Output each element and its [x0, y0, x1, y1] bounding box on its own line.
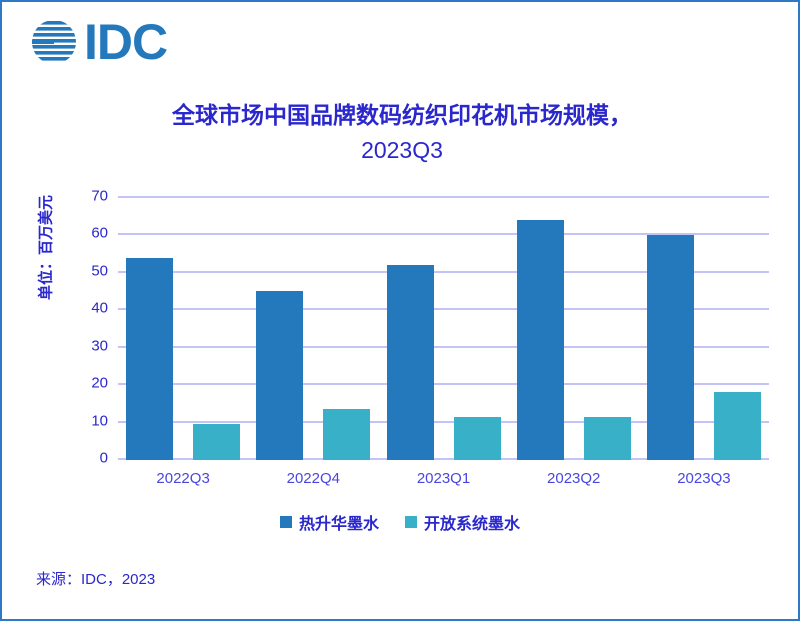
- y-axis-tick-label: 30: [91, 337, 108, 354]
- legend-swatch-icon: [405, 516, 417, 528]
- y-axis-tick-label: 0: [100, 450, 108, 467]
- bar: [584, 417, 631, 460]
- x-axis-tick-label: 2023Q2: [509, 470, 639, 487]
- chart-title-line1: 全球市场中国品牌数码纺织印花机市场规模，: [62, 98, 742, 133]
- y-axis-label: 单位：百万美元: [35, 163, 56, 333]
- source-note: 来源：IDC，2023: [36, 568, 155, 589]
- bar-groups: [118, 198, 769, 460]
- slide: IDC 全球市场中国品牌数码纺织印花机市场规模， 2023Q3 单位：百万美元 …: [0, 0, 800, 621]
- chart-title-line2: 2023Q3: [62, 133, 742, 168]
- legend-item[interactable]: 开放系统墨水: [405, 510, 520, 534]
- y-axis-tick-label: 20: [91, 375, 108, 392]
- y-axis-tick-label: 70: [91, 188, 108, 205]
- x-axis-tick-label: 2023Q1: [378, 470, 508, 487]
- legend-label: 热升华墨水: [299, 510, 379, 534]
- bar: [387, 265, 434, 460]
- bar: [454, 417, 501, 460]
- bar-group: [118, 198, 248, 460]
- bar: [126, 258, 173, 460]
- idc-logo: IDC: [28, 16, 167, 68]
- x-axis: 2022Q32022Q42023Q12023Q22023Q3: [118, 470, 769, 487]
- x-axis-tick-label: 2023Q3: [639, 470, 769, 487]
- bar: [714, 392, 761, 460]
- plot-area: 010203040506070: [118, 198, 769, 460]
- bar-chart: 单位：百万美元 010203040506070 2022Q32022Q42023…: [28, 187, 778, 477]
- bar: [647, 235, 694, 460]
- chart-title: 全球市场中国品牌数码纺织印花机市场规模， 2023Q3: [62, 98, 742, 167]
- bar: [193, 424, 240, 460]
- bar: [517, 220, 564, 460]
- y-axis-tick-label: 40: [91, 300, 108, 317]
- legend-swatch-icon: [280, 516, 292, 528]
- bar: [323, 409, 370, 460]
- y-axis-tick-label: 10: [91, 412, 108, 429]
- bar-group: [509, 198, 639, 460]
- bar-group: [639, 198, 769, 460]
- bar-group: [378, 198, 508, 460]
- idc-wordmark: IDC: [84, 17, 167, 67]
- legend-item[interactable]: 热升华墨水: [280, 510, 379, 534]
- y-axis-tick-label: 60: [91, 225, 108, 242]
- legend-label: 开放系统墨水: [424, 510, 520, 534]
- idc-globe-icon: [28, 16, 80, 68]
- bar: [256, 291, 303, 460]
- x-axis-tick-label: 2022Q3: [118, 470, 248, 487]
- bar-group: [248, 198, 378, 460]
- x-axis-tick-label: 2022Q4: [248, 470, 378, 487]
- chart-legend: 热升华墨水开放系统墨水: [2, 510, 798, 534]
- y-axis-tick-label: 50: [91, 262, 108, 279]
